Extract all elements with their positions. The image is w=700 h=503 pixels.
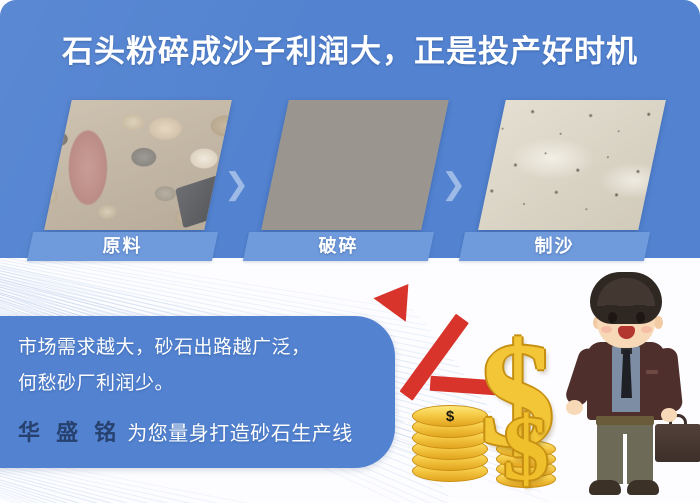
businessman-right-ear [654, 316, 663, 329]
businessman-pocket [646, 370, 658, 374]
businessman-right-shoe [627, 480, 659, 495]
businessman-right-eye [636, 312, 645, 323]
businessman-leg-gap [623, 434, 627, 484]
businessman-left-hand [566, 400, 583, 415]
message-line-3: 华 盛 铭 为您量身打造砂石生产线 [18, 415, 353, 447]
river-pebbles-photo [44, 100, 232, 230]
process-label-sand-making: 制沙 [462, 232, 647, 261]
businessman-right-cheek [641, 326, 652, 333]
coin-dollar-symbol: $ [413, 406, 487, 428]
promo-banner: 石头粉碎成沙子利润大，正是投产好时机 ❯ ❯ 原料 破碎 制沙 $ [0, 0, 700, 503]
businessman-right-hand [661, 408, 677, 422]
white-sand-photo [478, 100, 666, 230]
message-line-1: 市场需求越大，砂石出路越广泛， [18, 332, 311, 359]
businessman-left-eyebrow [605, 305, 618, 308]
process-image-raw-material [44, 100, 232, 230]
process-label-raw-material: 原料 [30, 232, 215, 261]
process-label-crushing: 破碎 [246, 232, 431, 261]
crushed-gravel-photo [261, 100, 449, 230]
chevron-right-icon: ❯ [441, 172, 465, 198]
businessman-with-briefcase-icon [560, 272, 700, 503]
chevron-right-icon: ❯ [224, 172, 248, 198]
brand-tagline: 为您量身打造砂石生产线 [121, 423, 353, 445]
businessman-belt [596, 416, 654, 425]
process-image-sand-making-inner [478, 100, 666, 230]
dollar-sign-small-icon: $ [503, 402, 549, 494]
page-title: 石头粉碎成沙子利润大，正是投产好时机 [0, 26, 700, 71]
businessman-left-eye [608, 312, 617, 323]
process-image-crushing-inner [261, 100, 449, 230]
businessman-left-cheek [601, 326, 612, 333]
message-line-2: 何愁砂厂利润少。 [18, 368, 174, 395]
businessman-right-eyebrow [633, 305, 646, 308]
swoosh-line [0, 468, 426, 503]
brand-name: 华 盛 铭 [18, 420, 121, 445]
process-image-crushing [261, 100, 449, 230]
briefcase-icon [655, 424, 700, 462]
process-image-sand-making [478, 100, 666, 230]
process-image-raw-material-inner [44, 100, 232, 230]
businessman-left-shoe [589, 480, 621, 495]
